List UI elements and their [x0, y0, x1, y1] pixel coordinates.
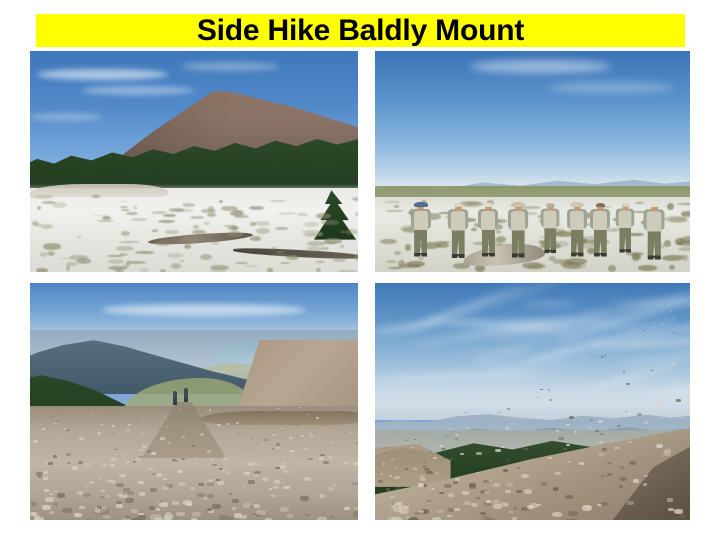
cap-icon	[546, 203, 554, 207]
rock	[119, 494, 128, 499]
rock	[418, 483, 424, 486]
rock	[405, 440, 407, 441]
rock	[537, 397, 539, 398]
rock	[150, 514, 161, 520]
rock	[556, 430, 559, 432]
cap-icon	[596, 203, 605, 207]
rock	[579, 462, 585, 465]
torso	[593, 211, 607, 231]
ground-patch	[131, 218, 147, 221]
rock	[192, 512, 200, 517]
rock	[644, 475, 649, 478]
photo-top-right[interactable]	[375, 51, 690, 272]
rock	[433, 457, 437, 459]
ground-patch	[297, 213, 308, 216]
rock	[676, 414, 681, 417]
ground-patch	[244, 265, 258, 267]
rock	[328, 456, 333, 459]
rock	[504, 504, 509, 507]
rock	[110, 464, 115, 467]
ground-patch	[36, 268, 48, 272]
ground-patch	[324, 238, 343, 244]
rock	[592, 395, 595, 397]
rock	[276, 443, 280, 445]
rock	[207, 450, 212, 453]
rock	[57, 493, 66, 498]
ground-patch	[267, 268, 274, 272]
ground-patch	[116, 246, 134, 252]
rock	[277, 408, 279, 409]
rock	[493, 483, 500, 487]
rock	[141, 417, 143, 418]
rock	[607, 473, 612, 476]
rock	[674, 509, 683, 514]
ground-patch	[123, 263, 129, 269]
ground-patch	[340, 245, 344, 248]
rock	[251, 438, 254, 440]
rock	[236, 422, 239, 424]
rock	[275, 467, 280, 469]
rock	[511, 423, 515, 425]
rock	[589, 419, 592, 421]
ground-patch	[121, 231, 130, 236]
ground-patch	[200, 254, 212, 260]
rock	[426, 471, 432, 474]
rock	[566, 424, 569, 426]
rock	[229, 493, 233, 495]
rock	[42, 505, 51, 510]
rock	[625, 411, 628, 413]
rock	[643, 421, 649, 424]
ground-patch	[227, 231, 243, 237]
rock	[156, 474, 162, 477]
ground-patch	[345, 229, 358, 235]
rock	[43, 477, 48, 480]
rock	[506, 428, 510, 430]
rock	[414, 439, 416, 440]
rock	[149, 506, 155, 509]
rock	[307, 414, 309, 415]
rock	[44, 489, 49, 492]
rock	[217, 481, 224, 485]
rock	[439, 492, 444, 495]
rock	[72, 466, 78, 469]
rock	[392, 517, 402, 520]
ground-patch	[152, 230, 155, 232]
boots	[647, 255, 661, 259]
rock	[477, 407, 479, 408]
rock	[476, 497, 480, 499]
rock	[454, 508, 460, 511]
rock	[625, 405, 628, 407]
rock	[486, 500, 491, 503]
rock	[414, 512, 421, 516]
rock	[310, 435, 314, 437]
rock	[484, 491, 489, 494]
hiker-group	[375, 51, 690, 272]
rock	[507, 459, 511, 461]
rock	[102, 464, 107, 467]
rock	[253, 504, 260, 508]
rock	[232, 499, 239, 503]
rock	[149, 468, 154, 471]
rock	[353, 462, 358, 465]
rock	[78, 461, 84, 464]
rock	[139, 492, 146, 496]
rock	[48, 462, 53, 465]
ground-patch	[316, 268, 321, 272]
page-title: Side Hike Baldly Mount	[197, 15, 524, 46]
ground-patch	[280, 262, 290, 264]
rock	[524, 489, 532, 493]
rock	[351, 482, 358, 486]
rock	[295, 424, 298, 425]
ground-patch	[133, 205, 137, 210]
rock	[262, 477, 270, 481]
rock	[125, 498, 134, 503]
rock	[133, 461, 137, 463]
rock	[164, 415, 166, 416]
torso	[543, 210, 556, 229]
rock	[289, 437, 293, 439]
ground-patch	[182, 203, 195, 207]
rock	[623, 390, 626, 392]
rock	[252, 513, 256, 515]
boots	[544, 249, 556, 253]
ground-patch	[37, 206, 41, 211]
rock	[349, 432, 353, 434]
rock	[319, 457, 324, 460]
ground-patch	[97, 220, 114, 222]
rock	[380, 473, 383, 475]
rock	[671, 363, 675, 365]
rock	[86, 519, 92, 520]
ground-patch	[249, 206, 265, 210]
rock	[128, 424, 131, 425]
legs	[570, 229, 583, 253]
rock	[283, 470, 289, 473]
rock	[273, 486, 278, 489]
rock	[613, 365, 615, 366]
rock	[600, 433, 604, 435]
ground-patch	[66, 262, 78, 266]
ground-patch	[278, 213, 296, 214]
rock	[548, 457, 552, 459]
rock	[563, 448, 567, 450]
rock	[601, 502, 608, 506]
ground-patch	[135, 251, 154, 253]
rock	[503, 469, 508, 472]
ground-patch	[276, 251, 283, 253]
rock	[31, 502, 37, 505]
hiker-on-trail	[184, 388, 188, 402]
torso	[619, 210, 632, 228]
rock	[566, 444, 570, 446]
boots	[570, 252, 583, 256]
rock	[460, 453, 464, 455]
rock	[353, 511, 358, 516]
rock	[671, 311, 673, 312]
rock	[676, 399, 681, 402]
rock	[565, 495, 573, 499]
rock	[469, 483, 476, 487]
rock	[382, 462, 385, 464]
ground-patch	[355, 213, 358, 217]
ground-patch	[32, 221, 38, 225]
rock	[240, 515, 247, 519]
rock	[248, 480, 254, 483]
rock	[103, 515, 111, 519]
rock	[680, 465, 689, 470]
rock	[101, 490, 105, 492]
rock	[172, 501, 179, 505]
rock	[422, 465, 426, 467]
rock	[85, 485, 89, 487]
rock	[35, 519, 42, 520]
rock	[30, 512, 37, 516]
rock	[455, 428, 458, 429]
rock	[253, 463, 259, 466]
ground-patch	[43, 243, 61, 249]
ground-patch	[224, 225, 235, 227]
rock	[160, 437, 164, 439]
rock	[386, 488, 390, 490]
scree-rocks	[375, 283, 690, 520]
torso	[570, 210, 584, 230]
rock	[595, 430, 598, 432]
rock	[181, 458, 185, 460]
rock	[661, 388, 665, 390]
rock	[203, 497, 208, 500]
boots	[619, 249, 631, 253]
rock	[620, 477, 627, 481]
rock	[592, 353, 594, 354]
rock	[506, 483, 513, 487]
ground-patch	[160, 269, 166, 272]
rock	[330, 516, 335, 518]
rock	[179, 409, 181, 410]
rock	[555, 472, 561, 475]
rock	[509, 511, 513, 513]
rock	[602, 448, 606, 450]
rock	[62, 508, 72, 513]
ground-patch	[184, 244, 191, 249]
rock	[212, 504, 221, 509]
rock	[674, 374, 677, 375]
rock	[632, 381, 635, 383]
rock	[259, 415, 261, 416]
rock	[448, 493, 455, 497]
rock	[66, 453, 71, 456]
ground-patch	[302, 230, 320, 234]
ground-patch	[210, 265, 229, 271]
rock	[407, 435, 409, 436]
rock	[548, 389, 550, 390]
rock	[405, 468, 408, 470]
ground-patch	[270, 200, 286, 202]
ground-patch	[256, 228, 270, 234]
rock	[275, 447, 279, 449]
wide-brim-hat-icon	[570, 202, 584, 207]
rock	[591, 375, 594, 377]
rock	[105, 495, 111, 498]
rock	[654, 403, 660, 406]
photo-bottom-left[interactable]	[30, 283, 358, 520]
ground-patch	[165, 230, 179, 234]
rock	[74, 513, 81, 517]
rock	[100, 496, 104, 498]
rock	[662, 324, 664, 325]
ground-patch	[352, 196, 358, 202]
rock	[207, 508, 213, 511]
rock	[301, 435, 303, 436]
rock	[568, 511, 578, 516]
rock	[190, 487, 195, 490]
rock	[442, 457, 446, 459]
rock	[583, 410, 586, 412]
photo-top-left-scene	[30, 51, 358, 272]
ground-patch	[190, 216, 204, 219]
rock	[51, 416, 53, 417]
rock	[611, 394, 615, 396]
rock	[209, 459, 214, 462]
ground-patch	[41, 224, 53, 229]
rock	[280, 428, 282, 429]
rock	[437, 510, 443, 513]
rock	[689, 327, 690, 328]
rock	[247, 462, 253, 465]
ground-patch	[151, 211, 167, 214]
rock	[199, 420, 202, 422]
rock	[138, 481, 144, 484]
rock	[558, 437, 563, 440]
rock	[282, 462, 286, 464]
rock	[167, 442, 171, 444]
ground-patch	[333, 258, 346, 261]
rock	[494, 410, 497, 411]
ground-patch	[221, 206, 239, 210]
rock	[274, 480, 280, 484]
rock	[628, 441, 632, 443]
rock	[652, 485, 658, 488]
rock	[664, 449, 671, 453]
rock	[549, 399, 552, 401]
rock	[254, 474, 259, 477]
rock	[673, 332, 675, 333]
photo-bottom-right[interactable]	[375, 283, 690, 520]
rock	[643, 483, 648, 485]
photo-bottom-left-scene	[30, 283, 358, 520]
rock	[45, 497, 54, 502]
ground-patch	[121, 201, 130, 203]
ground-patch	[321, 220, 339, 225]
rock	[606, 386, 610, 388]
rock	[178, 482, 186, 486]
rock	[527, 505, 535, 509]
rock	[667, 498, 673, 501]
rock	[567, 461, 571, 463]
rock	[177, 470, 182, 473]
ground-patch	[179, 260, 185, 263]
rock	[626, 383, 630, 385]
rock	[64, 428, 67, 430]
rock	[495, 449, 501, 452]
legs	[414, 230, 427, 254]
ground-patch	[338, 270, 357, 272]
ground-patch	[92, 195, 101, 198]
rock	[164, 514, 174, 519]
rock	[238, 433, 241, 434]
rock	[598, 453, 604, 456]
rock	[232, 507, 236, 509]
rock	[383, 453, 385, 454]
rock	[540, 389, 542, 390]
rock	[394, 476, 400, 479]
rock	[283, 486, 289, 489]
rock	[255, 443, 258, 445]
photo-top-left[interactable]	[30, 51, 358, 272]
ground-patch	[180, 237, 198, 242]
rock	[320, 454, 325, 457]
ground-patch	[286, 255, 299, 260]
rock	[304, 477, 312, 481]
rock	[308, 458, 313, 461]
rock	[131, 509, 138, 513]
rock	[464, 501, 471, 505]
ground-patch	[192, 230, 206, 235]
rock	[449, 428, 452, 429]
torso	[511, 211, 525, 231]
ground-patch	[167, 253, 184, 257]
torso	[451, 211, 465, 231]
rock	[77, 491, 84, 495]
rock	[609, 405, 612, 406]
rock	[127, 491, 134, 495]
rock	[271, 494, 276, 497]
ground-patch	[120, 241, 140, 242]
rock	[344, 507, 350, 510]
rock	[444, 484, 452, 488]
rock	[391, 459, 394, 461]
rock	[620, 466, 625, 469]
rock	[53, 423, 56, 425]
rock	[524, 448, 528, 450]
rock	[623, 371, 626, 372]
ground-patch	[108, 259, 124, 264]
rock	[640, 510, 646, 513]
ground-patch	[155, 242, 161, 245]
rock	[58, 439, 61, 440]
rock	[317, 517, 327, 520]
rock	[471, 503, 478, 507]
rock	[637, 413, 642, 416]
legs	[482, 230, 495, 254]
rock	[83, 493, 91, 498]
rock	[54, 490, 58, 492]
boots	[452, 253, 465, 257]
ground-patch	[140, 268, 149, 272]
rock	[462, 491, 469, 495]
rock	[309, 433, 312, 435]
ground-patch	[163, 214, 176, 217]
legs	[594, 230, 607, 254]
rock	[429, 451, 432, 453]
rock	[49, 511, 54, 514]
ground-patch	[176, 209, 194, 212]
rock	[509, 391, 511, 392]
rock	[688, 304, 690, 305]
rock	[446, 436, 449, 438]
